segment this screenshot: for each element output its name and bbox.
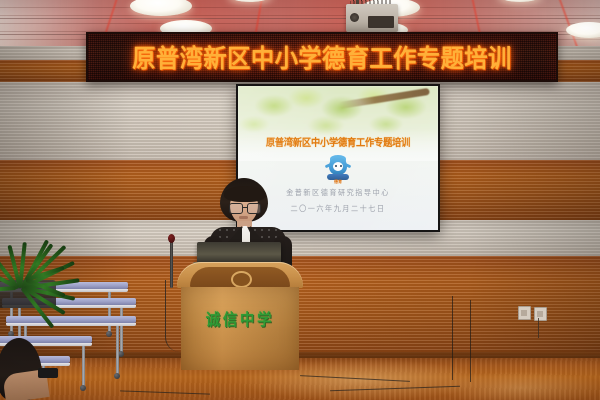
floor-cable	[470, 300, 471, 382]
ceiling-projector	[346, 4, 398, 32]
potted-plant	[0, 178, 84, 308]
podium-inscription: 诚信中学	[187, 306, 293, 330]
glasses-icon	[229, 203, 259, 212]
speaker-bangs	[224, 186, 266, 202]
laptop[interactable]	[197, 242, 281, 264]
camera-icon	[38, 368, 58, 378]
mascot-icon: 德育	[325, 151, 351, 181]
projector-lens	[350, 13, 359, 22]
projector-vent	[368, 16, 394, 28]
microphone-icon	[168, 234, 175, 243]
outlet-wire	[538, 318, 539, 338]
mascot-label: 德育	[325, 179, 351, 185]
speaker-mouth	[239, 216, 248, 219]
ceiling-seam	[0, 18, 600, 19]
podium-ring-emblem	[231, 271, 252, 288]
led-banner: 原普湾新区中小学德育工作专题培训	[86, 32, 558, 82]
wall-outlet[interactable]	[518, 306, 531, 320]
led-banner-text: 原普湾新区中小学德育工作专题培训	[132, 39, 511, 75]
podium: 诚信中学	[177, 258, 303, 370]
wall-outlet[interactable]	[534, 307, 547, 321]
photo-scene: 原普湾新区中小学德育工作专题培训 原普湾新区中小学德育工作专题培训 德育 金普新…	[0, 0, 600, 400]
floor-cable	[452, 296, 453, 380]
slide-title: 原普湾新区中小学德育工作专题培训	[246, 134, 430, 149]
